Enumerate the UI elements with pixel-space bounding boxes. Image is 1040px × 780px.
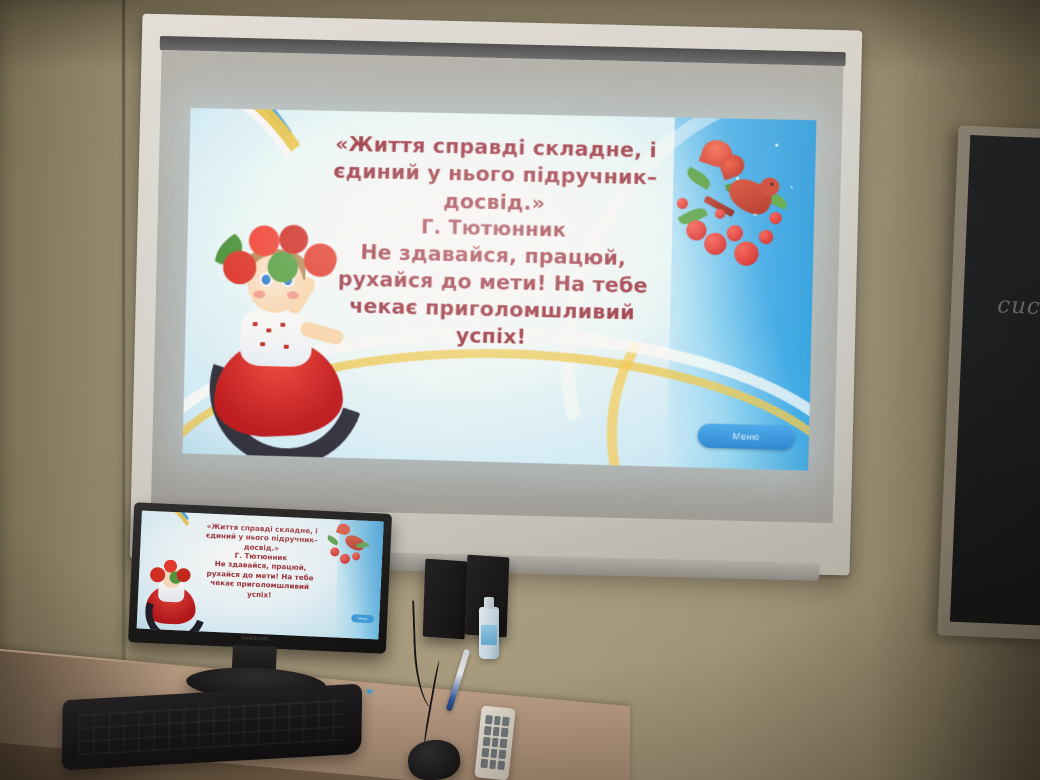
monitor-power-led — [367, 690, 372, 693]
slide-text-block: «Життя справді складне, і єдиний у нього… — [254, 129, 735, 356]
remote-key[interactable] — [501, 728, 509, 738]
viburnum-berry — [769, 212, 781, 224]
interactive-whiteboard[interactable]: «Життя справді складне, і єдиний у нього… — [130, 14, 863, 576]
chalkboard-chalk-text: сис — [997, 292, 1040, 320]
remote-key[interactable] — [481, 748, 489, 758]
keyboard-keys[interactable] — [78, 699, 344, 756]
remote-key[interactable] — [492, 727, 500, 737]
remote-key[interactable] — [498, 760, 506, 770]
bottle-cap — [484, 597, 494, 609]
desktop-monitor[interactable]: «Життя справді складне, і єдиний у нього… — [126, 502, 392, 699]
monitor-slide-mirror: «Життя справді складне, і єдиний у нього… — [137, 511, 384, 640]
hand-sanitizer-bottle — [479, 607, 499, 659]
remote-key[interactable] — [484, 726, 492, 736]
viburnum-berry — [759, 230, 774, 244]
classroom-scene: сис — [0, 0, 1040, 780]
bird-eye — [770, 183, 773, 186]
menu-button[interactable]: Меню — [697, 423, 795, 450]
wall-corner-left — [0, 0, 126, 718]
remote-key[interactable] — [491, 738, 499, 748]
monitor-screen[interactable]: «Життя справді складне, і єдиний у нього… — [137, 511, 384, 640]
bottle-label — [481, 625, 497, 645]
remote-key[interactable] — [494, 716, 502, 726]
remote-key[interactable] — [489, 760, 497, 770]
remote-key[interactable] — [483, 737, 491, 747]
remote-key[interactable] — [485, 715, 493, 725]
viburnum-berry — [734, 241, 759, 266]
projected-slide[interactable]: «Життя справді складне, і єдиний у нього… — [183, 108, 817, 471]
remote-key[interactable] — [480, 759, 488, 769]
remote-buttons[interactable] — [480, 715, 510, 771]
remote-key[interactable] — [490, 749, 498, 759]
remote-key[interactable] — [502, 717, 510, 727]
wall-corner-edge — [122, 0, 125, 716]
mini-menu-button[interactable]: Меню — [351, 614, 375, 623]
monitor-slide-text: «Життя справді складне, і єдиний у нього… — [164, 520, 357, 603]
remote-key[interactable] — [500, 739, 508, 749]
remote-key[interactable] — [499, 750, 507, 760]
